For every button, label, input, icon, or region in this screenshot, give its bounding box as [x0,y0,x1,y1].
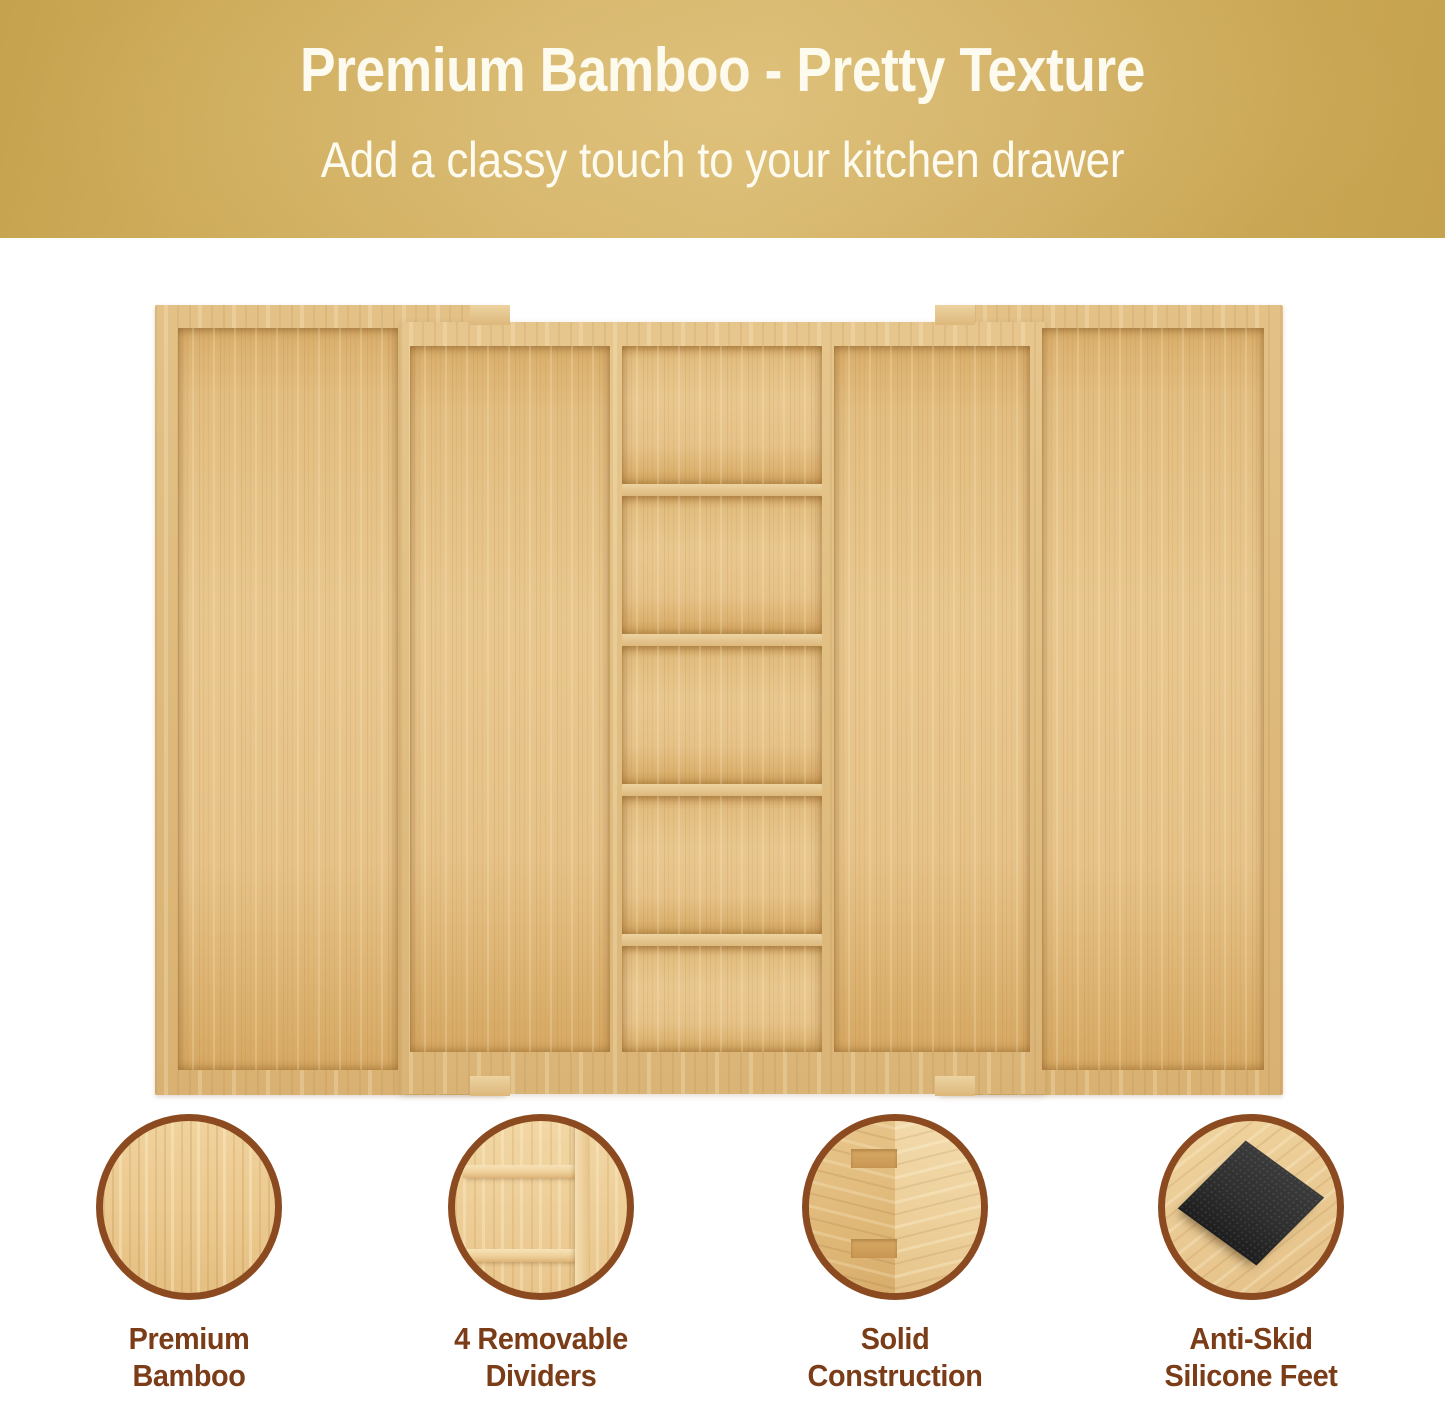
feature-label-line1: Solid [742,1320,1049,1357]
compartment-center-5 [622,946,822,1052]
expansion-tab-bottom-left [470,1076,510,1096]
product-hero-image [0,238,1445,1100]
compartment-right [834,346,1030,1052]
banner-title: Premium Bamboo - Pretty Texture [101,36,1344,106]
corner-joint-icon [802,1114,988,1300]
feature-highlights: Premium Bamboo 4 Removable Dividers Soli… [0,1102,1445,1409]
feature-label-line1: Anti-Skid [1098,1320,1405,1357]
feature-label-premium-bamboo: Premium Bamboo [36,1320,343,1394]
feature-item-removable-dividers: 4 Removable Dividers [376,1102,706,1394]
feature-label-line2: Dividers [388,1357,695,1394]
divider-bar-top [463,1165,581,1178]
banner-subtitle: Add a classy touch to your kitchen drawe… [87,131,1359,189]
feature-label-line2: Construction [742,1357,1049,1394]
removable-dividers-icon [448,1114,634,1300]
feature-item-anti-skid-feet: Anti-Skid Silicone Feet [1086,1102,1416,1394]
feature-label-removable-dividers: 4 Removable Dividers [388,1320,695,1394]
compartment-center-3 [622,646,822,784]
compartment-center-4 [622,796,822,934]
compartment-far-left [178,328,398,1070]
compartment-center-2 [622,496,822,634]
dovetail-joint-top [851,1149,897,1168]
feature-item-premium-bamboo: Premium Bamboo [24,1102,354,1394]
expansion-tab-top-left [470,305,510,325]
silicone-foot-icon [1158,1114,1344,1300]
feature-label-line1: 4 Removable [388,1320,695,1357]
expansion-tab-bottom-right [935,1076,975,1096]
dovetail-joint-bottom [851,1239,897,1258]
compartment-center-1 [622,346,822,484]
divider-vertical [575,1121,589,1293]
expansion-tab-top-right [935,305,975,325]
bamboo-plank-icon [96,1114,282,1300]
corner-face-right [895,1121,981,1293]
header-banner: Premium Bamboo - Pretty Texture Add a cl… [0,0,1445,238]
feature-item-solid-construction: Solid Construction [730,1102,1060,1394]
feature-label-anti-skid-feet: Anti-Skid Silicone Feet [1098,1320,1405,1394]
removable-divider-4[interactable] [622,934,822,946]
removable-divider-2[interactable] [622,634,822,646]
removable-divider-1[interactable] [622,484,822,496]
compartment-far-right [1042,328,1264,1070]
feature-label-line1: Premium [36,1320,343,1357]
feature-label-line2: Silicone Feet [1098,1357,1405,1394]
feature-label-solid-construction: Solid Construction [742,1320,1049,1394]
corner-face-left [809,1121,895,1293]
compartment-left [410,346,610,1052]
feature-label-line2: Bamboo [36,1357,343,1394]
divider-bar-bottom [463,1249,581,1262]
removable-divider-3[interactable] [622,784,822,796]
silicone-foot-pad [1178,1140,1325,1265]
